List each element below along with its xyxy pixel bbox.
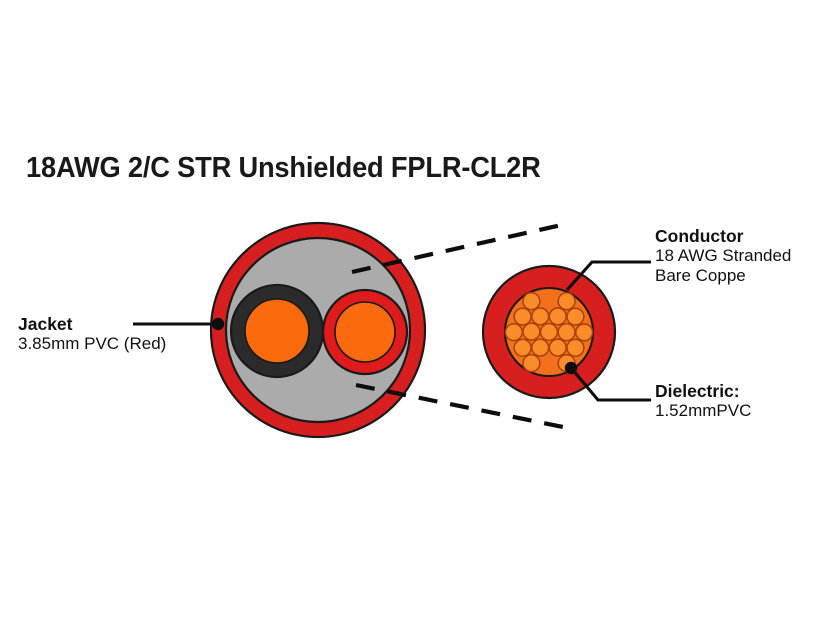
copper-strand <box>567 308 584 325</box>
leader-dot-dielectric <box>565 362 577 374</box>
conductor-right-core <box>335 302 395 362</box>
copper-strand <box>549 339 566 356</box>
callout-jacket-title: Jacket <box>18 314 166 334</box>
copper-strand <box>541 324 558 341</box>
copper-strand <box>532 308 549 325</box>
copper-strand <box>532 339 549 356</box>
copper-strand <box>505 324 522 341</box>
conductor-left-core <box>245 299 309 363</box>
leader-dot-jacket <box>212 318 224 330</box>
callout-conductor-subtitle-line1: 18 AWG Stranded <box>655 246 791 266</box>
copper-strand <box>523 293 540 310</box>
detail-conductor-group <box>483 266 615 398</box>
callout-jacket: Jacket 3.85mm PVC (Red) <box>18 314 166 354</box>
callout-dielectric-subtitle: 1.52mmPVC <box>655 401 751 421</box>
copper-strand <box>514 308 531 325</box>
copper-strand <box>558 324 575 341</box>
main-cable-group <box>211 223 425 437</box>
diagram-canvas: 18AWG 2/C STR Unshielded FPLR-CL2R <box>0 0 840 630</box>
copper-strand <box>514 339 531 356</box>
callout-dielectric: Dielectric: 1.52mmPVC <box>655 381 751 421</box>
callout-dielectric-title: Dielectric: <box>655 381 751 401</box>
copper-strand <box>567 339 584 356</box>
copper-strand <box>558 293 575 310</box>
copper-strand <box>576 324 593 341</box>
copper-strand <box>523 355 540 372</box>
callout-conductor: Conductor 18 AWG Stranded Bare Coppe <box>655 226 791 286</box>
copper-strand <box>549 308 566 325</box>
callout-conductor-title: Conductor <box>655 226 791 246</box>
callout-conductor-subtitle-line2: Bare Coppe <box>655 266 791 286</box>
copper-strand <box>523 323 540 340</box>
callout-jacket-subtitle: 3.85mm PVC (Red) <box>18 334 166 354</box>
